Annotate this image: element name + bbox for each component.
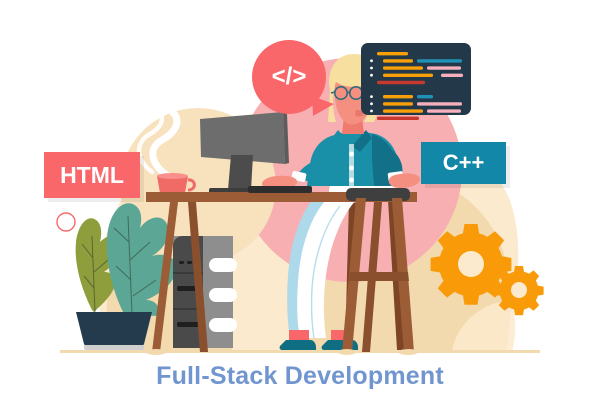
- page-title: Full-Stack Development: [0, 362, 600, 391]
- shoe-back: [280, 340, 316, 350]
- code-line-segment: [383, 102, 413, 105]
- code-line-segment: [377, 52, 408, 55]
- coffee-cup-rim: [157, 173, 188, 179]
- code-line-bullet: [370, 102, 373, 105]
- code-speech-bubble[interactable]: </>: [252, 40, 326, 114]
- code-line-bullet: [370, 95, 373, 98]
- stool-crossbar: [349, 272, 409, 281]
- code-line-segment: [417, 102, 462, 105]
- code-line-segment: [427, 109, 461, 112]
- code-line-segment: [417, 95, 433, 98]
- code-line-segment: [377, 81, 425, 84]
- code-line-segment: [427, 66, 461, 69]
- tower-bay-2: [209, 288, 237, 302]
- code-line-bullet: [370, 74, 373, 77]
- tower-strip-2: [177, 322, 199, 327]
- coral-ring-accent: [57, 213, 75, 231]
- html-label-text: HTML: [60, 162, 124, 189]
- cpp-label-text: C++: [443, 150, 485, 176]
- shirt-button-1: [349, 152, 354, 157]
- shirt-button-3: [349, 178, 354, 183]
- stool-foot-shadow-right: [400, 349, 418, 355]
- stool-foot-shadow-left: [338, 349, 356, 355]
- tower-bay-3: [209, 318, 237, 332]
- code-editor-window[interactable]: [361, 43, 471, 120]
- code-line-segment: [383, 66, 423, 69]
- code-line-bullet: [370, 67, 373, 70]
- keyboard: [248, 186, 312, 193]
- sock-back: [289, 330, 309, 341]
- code-line-segment: [377, 117, 419, 120]
- tower-bay-1: [209, 258, 237, 272]
- code-line-segment: [383, 59, 413, 62]
- illustration-canvas: HTML C++ </> Full-Stack Development: [0, 0, 600, 417]
- tower-led-1: [179, 261, 184, 264]
- gear-small-icon: [494, 266, 543, 315]
- code-line-segment: [383, 74, 433, 77]
- plant-pot-saucer: [84, 345, 144, 350]
- monitor-stand-neck: [228, 155, 253, 190]
- html-label-badge[interactable]: HTML: [44, 152, 140, 198]
- shirt-button-2: [349, 166, 354, 171]
- code-line-bullet: [370, 59, 373, 62]
- code-line-segment: [441, 74, 463, 77]
- code-line-segment: [383, 109, 423, 112]
- floor-line: [60, 350, 540, 353]
- code-line-segment: [383, 95, 413, 98]
- code-line-segment: [417, 59, 462, 62]
- code-bubble-text: </>: [272, 63, 307, 91]
- plant-pot: [76, 312, 152, 347]
- desk-leg-shadow-left: [146, 349, 166, 355]
- tower-led-2: [187, 261, 192, 264]
- code-line-bullet: [370, 110, 373, 113]
- cpp-label-badge[interactable]: C++: [421, 142, 506, 184]
